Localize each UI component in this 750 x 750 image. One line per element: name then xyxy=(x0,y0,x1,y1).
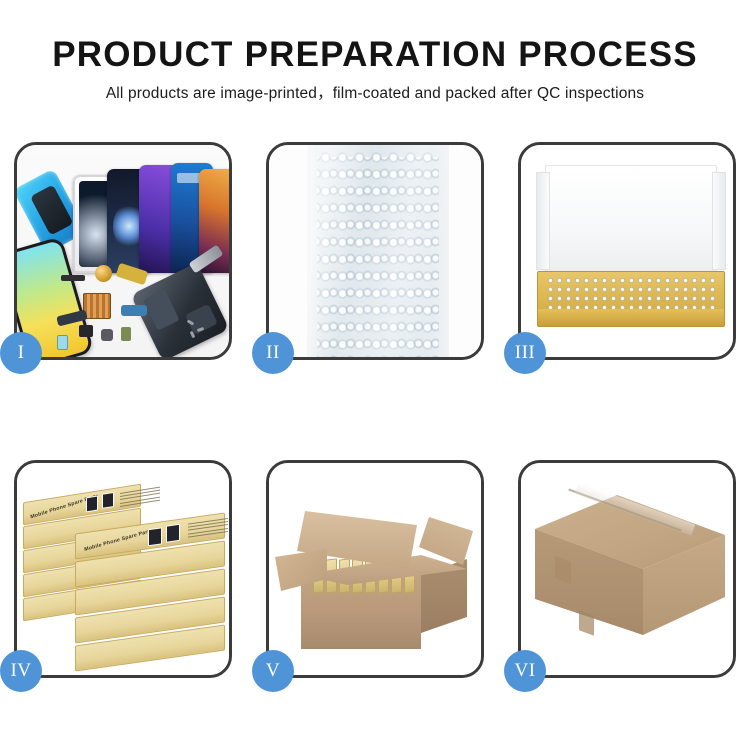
stacked-boxes-illustration: Mobile Phone Spare Parts Mobile Phone Sp… xyxy=(17,463,229,675)
front-box-screen-1 xyxy=(148,527,162,546)
step-badge-iv: IV xyxy=(0,650,42,692)
small-part-2-icon xyxy=(101,329,113,341)
bubble-wrap-sheet xyxy=(307,145,449,357)
page-title: PRODUCT PREPARATION PROCESS xyxy=(0,34,750,76)
chip-component-icon xyxy=(83,293,111,319)
screws-icon xyxy=(187,319,213,339)
front-box-screen-2 xyxy=(166,524,180,543)
step-badge-i: I xyxy=(0,332,42,374)
step-badge-v: V xyxy=(252,650,294,692)
bubble-wrapped-contents xyxy=(546,276,716,310)
step-badge-ii: II xyxy=(252,332,294,374)
speaker-component-icon xyxy=(95,265,112,282)
step-card-ii: II xyxy=(266,142,484,360)
open-carton-illustration xyxy=(269,463,481,675)
flex-cable-c-icon xyxy=(121,305,147,316)
box-tray xyxy=(537,271,725,327)
product-preparation-infographic: PRODUCT PREPARATION PROCESS All products… xyxy=(0,0,750,750)
header: PRODUCT PREPARATION PROCESS All products… xyxy=(0,34,750,104)
box-front-panel xyxy=(538,309,724,326)
small-part-4-icon xyxy=(57,335,68,350)
step-card-iii: III xyxy=(518,142,736,360)
step-card-iv: Mobile Phone Spare Parts Mobile Phone Sp… xyxy=(14,460,232,678)
small-part-1-icon xyxy=(79,325,93,337)
back-box-spec-lines xyxy=(120,487,160,509)
carton-tab-2 xyxy=(579,610,594,635)
step-card-v: V xyxy=(266,460,484,678)
front-box-spec-lines xyxy=(188,518,228,540)
step-badge-iii: III xyxy=(504,332,546,374)
battery-connector-icon xyxy=(61,275,85,281)
page-subtitle: All products are image-printed，film-coat… xyxy=(0,84,750,104)
box-stack: Mobile Phone Spare Parts Mobile Phone Sp… xyxy=(19,483,229,669)
box-lid xyxy=(545,165,717,273)
inner-box-illustration xyxy=(521,145,733,357)
step-badge-vi: VI xyxy=(504,650,546,692)
back-box-screen-1 xyxy=(86,495,98,512)
sealed-carton-illustration xyxy=(521,463,733,675)
step-card-vi: VI xyxy=(518,460,736,678)
bubble-wrap-illustration xyxy=(269,145,481,357)
process-steps-grid: I II III xyxy=(14,142,736,679)
phone-parts-illustration xyxy=(17,145,229,357)
step-card-i: I xyxy=(14,142,232,360)
plastic-sheen xyxy=(307,145,449,357)
front-box-label: Mobile Phone Spare Parts xyxy=(84,528,153,553)
back-box-screen-2 xyxy=(102,492,114,509)
small-part-3-icon xyxy=(121,327,131,341)
